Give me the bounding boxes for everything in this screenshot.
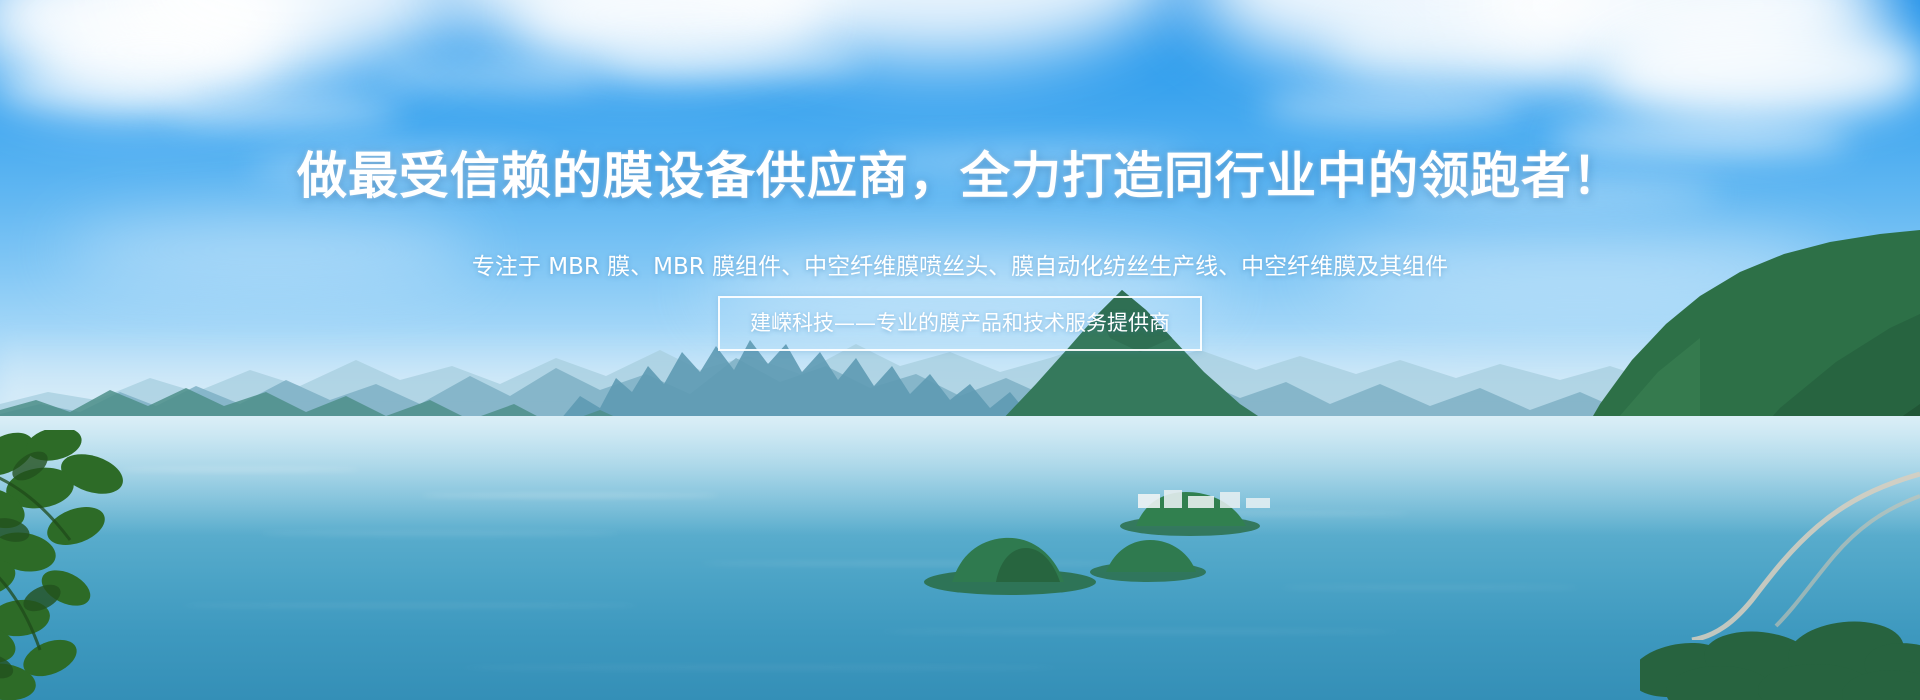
banner-subheadline: 专注于 MBR 膜、MBR 膜组件、中空纤维膜喷丝头、膜自动化纺丝生产线、中空纤… <box>0 251 1920 283</box>
hero-banner: 做最受信赖的膜设备供应商，全力打造同行业中的领跑者！ 专注于 MBR 膜、MBR… <box>0 0 1920 700</box>
banner-tagline-wrapper: 建嵘科技——专业的膜产品和技术服务提供商 <box>0 296 1920 351</box>
banner-tagline-box: 建嵘科技——专业的膜产品和技术服务提供商 <box>718 296 1202 351</box>
banner-text-overlay: 做最受信赖的膜设备供应商，全力打造同行业中的领跑者！ 专注于 MBR 膜、MBR… <box>0 0 1920 700</box>
banner-headline: 做最受信赖的膜设备供应商，全力打造同行业中的领跑者！ <box>0 146 1920 206</box>
